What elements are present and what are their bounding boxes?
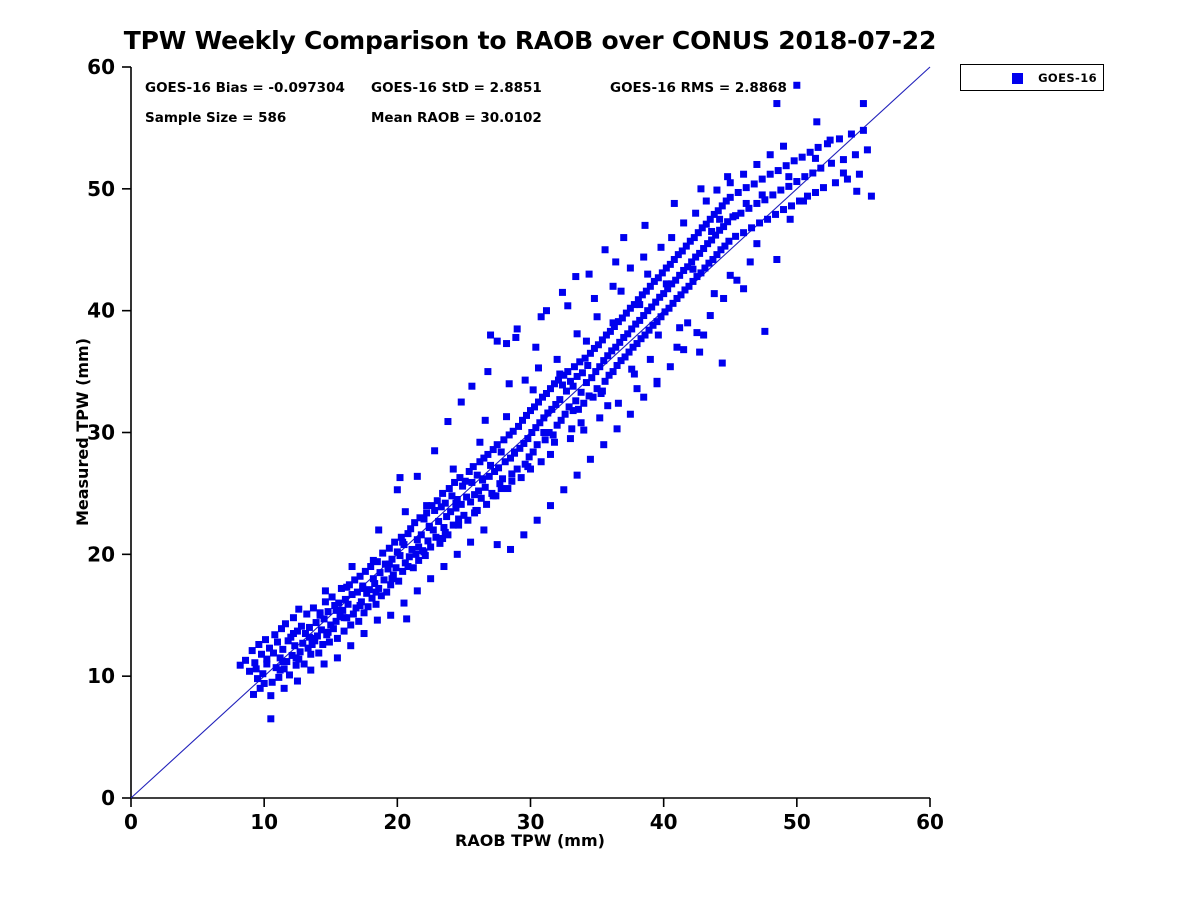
scatter-point xyxy=(724,173,731,180)
scatter-point xyxy=(361,630,368,637)
scatter-point xyxy=(275,674,282,681)
scatter-point xyxy=(844,176,851,183)
scatter-point xyxy=(567,435,574,442)
scatter-point xyxy=(696,349,703,356)
scatter-point xyxy=(580,427,587,434)
scatter-point xyxy=(370,557,377,564)
scatter-point xyxy=(315,650,322,657)
scatter-point xyxy=(444,418,451,425)
scatter-point xyxy=(860,100,867,107)
scatter-point xyxy=(255,641,262,648)
scatter-point xyxy=(560,486,567,493)
scatter-point xyxy=(434,497,441,504)
scatter-point xyxy=(727,272,734,279)
scatter-point xyxy=(799,154,806,161)
scatter-point xyxy=(407,525,414,532)
scatter-point xyxy=(542,436,549,443)
scatter-point xyxy=(791,157,798,164)
scatter-point xyxy=(507,546,514,553)
scatter-point xyxy=(570,383,577,390)
scatter-point xyxy=(403,615,410,622)
scatter-point xyxy=(307,651,314,658)
scatter-point xyxy=(397,474,404,481)
scatter-point xyxy=(591,295,598,302)
scatter-point xyxy=(759,191,766,198)
scatter-point xyxy=(369,595,376,602)
scatter-point xyxy=(326,639,333,646)
scatter-point xyxy=(424,537,431,544)
scatter-point xyxy=(343,584,350,591)
scatter-point xyxy=(494,441,501,448)
scatter-point xyxy=(604,402,611,409)
scatter-point xyxy=(815,144,822,151)
scatter-point xyxy=(335,600,342,607)
y-axis-ticks xyxy=(122,67,131,798)
scatter-point xyxy=(251,659,258,666)
scatter-point xyxy=(568,425,575,432)
scatter-point xyxy=(291,642,298,649)
scatter-point xyxy=(458,399,465,406)
scatter-point xyxy=(783,162,790,169)
scatter-point xyxy=(313,619,320,626)
scatter-point xyxy=(550,431,557,438)
scatter-point xyxy=(483,501,490,508)
scatter-point xyxy=(732,233,739,240)
scatter-point xyxy=(267,715,274,722)
scatter-point xyxy=(627,411,634,418)
scatter-point xyxy=(246,668,253,675)
scatter-point xyxy=(514,466,521,473)
scatter-point xyxy=(314,632,321,639)
scatter-point xyxy=(511,448,518,455)
scatter-point xyxy=(262,636,269,643)
scatter-point xyxy=(402,508,409,515)
y-tick-label-20: 20 xyxy=(87,542,115,566)
scatter-point xyxy=(427,575,434,582)
scatter-point xyxy=(334,635,341,642)
scatter-point xyxy=(355,618,362,625)
scatter-point xyxy=(446,485,453,492)
scatter-point xyxy=(253,665,260,672)
scatter-point xyxy=(322,587,329,594)
x-axis-label: RAOB TPW (mm) xyxy=(455,831,605,850)
scatter-point xyxy=(375,526,382,533)
scatter-point xyxy=(743,200,750,207)
scatter-point xyxy=(785,183,792,190)
scatter-point xyxy=(767,171,774,178)
scatter-point xyxy=(578,389,585,396)
scatter-point xyxy=(476,439,483,446)
scatter-point xyxy=(676,324,683,331)
scatter-point xyxy=(596,414,603,421)
scatter-point xyxy=(286,671,293,678)
scatter-point xyxy=(773,256,780,263)
scatter-point xyxy=(508,478,515,485)
scatter-point xyxy=(522,377,529,384)
scatter-point xyxy=(574,472,581,479)
scatter-point xyxy=(756,219,763,226)
legend-label-goes16: GOES-16 xyxy=(961,71,1097,85)
scatter-point xyxy=(680,346,687,353)
scatter-point xyxy=(321,615,328,622)
scatter-point xyxy=(580,400,587,407)
scatter-point xyxy=(389,575,396,582)
scatter-point xyxy=(478,495,485,502)
scatter-point xyxy=(334,654,341,661)
scatter-point xyxy=(590,394,597,401)
scatter-point xyxy=(503,340,510,347)
scatter-point xyxy=(647,356,654,363)
scatter-point xyxy=(431,447,438,454)
scatter-point xyxy=(347,622,354,629)
x-tick-label-50: 50 xyxy=(783,810,811,834)
scatter-point xyxy=(840,170,847,177)
scatter-point xyxy=(467,498,474,505)
scatter-point xyxy=(807,149,814,156)
legend: GOES-16 xyxy=(960,64,1104,91)
scatter-point xyxy=(277,667,284,674)
scatter-point xyxy=(693,329,700,336)
scatter-point xyxy=(306,634,313,641)
scatter-point xyxy=(759,176,766,183)
scatter-point xyxy=(716,216,723,223)
scatter-point xyxy=(250,691,257,698)
scatter-point xyxy=(464,517,471,524)
scatter-point xyxy=(719,360,726,367)
scatter-point xyxy=(414,587,421,594)
scatter-point xyxy=(439,535,446,542)
scatter-point xyxy=(538,458,545,465)
scatter-point xyxy=(281,685,288,692)
scatter-point xyxy=(586,271,593,278)
scatter-point xyxy=(386,545,393,552)
scatter-point xyxy=(658,244,665,251)
scatter-point xyxy=(809,170,816,177)
scatter-point xyxy=(534,517,541,524)
scatter-point xyxy=(620,234,627,241)
scatter-point xyxy=(663,280,670,287)
scatter-point xyxy=(564,302,571,309)
scatter-point xyxy=(499,475,506,482)
scatter-point xyxy=(426,524,433,531)
scatter-point xyxy=(788,202,795,209)
scatter-point xyxy=(503,413,510,420)
scatter-point xyxy=(387,581,394,588)
scatter-point xyxy=(271,631,278,638)
scatter-point xyxy=(306,624,313,631)
scatter-point xyxy=(556,371,563,378)
scatter-point xyxy=(367,563,374,570)
scatter-point xyxy=(559,381,566,388)
scatter-point xyxy=(282,620,289,627)
scatter-point xyxy=(341,614,348,621)
scatter-point xyxy=(303,611,310,618)
scatter-point xyxy=(707,312,714,319)
scatter-point xyxy=(587,456,594,463)
scatter-point xyxy=(482,417,489,424)
scatter-point xyxy=(319,641,326,648)
scatter-point xyxy=(570,407,577,414)
scatter-point xyxy=(564,368,571,375)
y-tick-label-0: 0 xyxy=(101,786,115,810)
scatter-point xyxy=(317,609,324,616)
scatter-point xyxy=(391,539,398,546)
scatter-point xyxy=(415,557,422,564)
scatter-point xyxy=(494,541,501,548)
scatter-point xyxy=(347,642,354,649)
scatter-point xyxy=(769,191,776,198)
scatter-point xyxy=(383,589,390,596)
scatter-point xyxy=(599,388,606,395)
scatter-point xyxy=(295,606,302,613)
scatter-point xyxy=(269,679,276,686)
scatter-point xyxy=(832,179,839,186)
scatter-point xyxy=(333,607,340,614)
scatter-point xyxy=(610,283,617,290)
scatter-point xyxy=(379,550,386,557)
y-tick-label-10: 10 xyxy=(87,664,115,688)
scatter-point xyxy=(780,206,787,213)
scatter-point xyxy=(484,368,491,375)
scatter-point xyxy=(775,167,782,174)
scatter-point xyxy=(487,462,494,469)
scatter-point xyxy=(654,378,661,385)
scatter-point xyxy=(427,544,434,551)
scatter-point xyxy=(860,127,867,134)
scatter-point xyxy=(506,380,513,387)
scatter-point xyxy=(801,173,808,180)
x-tick-label-60: 60 xyxy=(916,810,944,834)
scatter-point xyxy=(534,441,541,448)
scatter-point xyxy=(482,484,489,491)
scatter-point xyxy=(470,463,477,470)
scatter-point xyxy=(644,271,651,278)
scatter-point xyxy=(689,266,696,273)
scatter-point xyxy=(400,600,407,607)
scatter-point xyxy=(562,411,569,418)
scatter-point xyxy=(498,485,505,492)
scatter-point xyxy=(475,487,482,494)
scatter-point xyxy=(440,563,447,570)
scatter-point xyxy=(393,564,400,571)
scatter-point xyxy=(780,143,787,150)
scatter-point xyxy=(257,685,264,692)
scatter-point xyxy=(442,529,449,536)
scatter-point xyxy=(640,254,647,261)
scatter-point xyxy=(747,258,754,265)
scatter-point xyxy=(753,240,760,247)
scatter-point xyxy=(450,466,457,473)
scatter-point xyxy=(480,526,487,533)
scatter-point xyxy=(655,332,662,339)
scatter-point xyxy=(827,137,834,144)
scatter-point xyxy=(310,604,317,611)
scatter-point xyxy=(423,509,430,516)
scatter-point xyxy=(495,464,502,471)
y-axis-label: Measured TPW (mm) xyxy=(73,338,92,526)
scatter-point xyxy=(298,623,305,630)
scatter-point xyxy=(711,290,718,297)
scatter-point xyxy=(455,522,462,529)
x-tick-label-0: 0 xyxy=(124,810,138,834)
scatter-point xyxy=(532,344,539,351)
scatter-point xyxy=(462,478,469,485)
scatter-point xyxy=(297,648,304,655)
scatter-point xyxy=(397,552,404,559)
scatter-point xyxy=(817,165,824,172)
scatter-point xyxy=(468,383,475,390)
scatter-point xyxy=(667,363,674,370)
scatter-point xyxy=(350,611,357,618)
scatter-point xyxy=(432,534,439,541)
scatter-point xyxy=(418,531,425,538)
scatter-point xyxy=(530,386,537,393)
scatter-point xyxy=(751,180,758,187)
scatter-point xyxy=(538,313,545,320)
scatter-point xyxy=(431,507,438,514)
scatter-point xyxy=(800,198,807,205)
scatter-point xyxy=(556,396,563,403)
scatter-point xyxy=(732,212,739,219)
scatter-point xyxy=(618,288,625,295)
scatter-point xyxy=(349,563,356,570)
scatter-point xyxy=(361,609,368,616)
scatter-point xyxy=(404,563,411,570)
scatter-point xyxy=(708,228,715,235)
scatter-point xyxy=(583,338,590,345)
scatter-point xyxy=(293,662,300,669)
scatter-point xyxy=(490,492,497,499)
scatter-point xyxy=(454,551,461,558)
scatter-point xyxy=(415,544,422,551)
scatter-point xyxy=(345,601,352,608)
scatter-point xyxy=(727,179,734,186)
scatter-point xyxy=(357,602,364,609)
y-tick-label-50: 50 xyxy=(87,177,115,201)
scatter-point xyxy=(524,463,531,470)
scatter-point xyxy=(325,629,332,636)
scatter-point xyxy=(439,490,446,497)
scatter-point xyxy=(540,429,547,436)
scatter-point xyxy=(322,598,329,605)
scatter-point xyxy=(547,502,554,509)
scatter-point xyxy=(602,246,609,253)
scatter-point xyxy=(713,187,720,194)
scatter-point xyxy=(753,200,760,207)
scatter-point xyxy=(579,369,586,376)
scatter-point xyxy=(600,441,607,448)
scatter-point xyxy=(471,509,478,516)
scatter-point xyxy=(366,586,373,593)
scatter-point xyxy=(559,289,566,296)
scatter-plot-canvas: 0102030405060 0102030405060 RAOB TPW (mm… xyxy=(0,0,1200,900)
scatter-point xyxy=(773,100,780,107)
scatter-point xyxy=(615,400,622,407)
scatter-point xyxy=(290,630,297,637)
scatter-point xyxy=(836,135,843,142)
scatter-point xyxy=(753,161,760,168)
scatter-point xyxy=(743,184,750,191)
x-tick-label-40: 40 xyxy=(650,810,678,834)
scatter-point xyxy=(423,502,430,509)
scatter-point xyxy=(270,650,277,657)
scatter-point xyxy=(394,486,401,493)
scatter-point xyxy=(365,603,372,610)
scatter-point xyxy=(359,585,366,592)
scatter-point xyxy=(406,553,413,560)
scatter-point xyxy=(420,516,427,523)
scatter-point xyxy=(671,200,678,207)
scatter-point xyxy=(341,628,348,635)
scatter-point xyxy=(514,325,521,332)
scatter-point xyxy=(602,378,609,385)
scatter-point xyxy=(572,273,579,280)
scatter-point xyxy=(740,171,747,178)
scatter-point xyxy=(377,569,384,576)
scatter-point xyxy=(242,657,249,664)
scatter-point xyxy=(547,451,554,458)
scatter-point xyxy=(487,332,494,339)
scatter-point xyxy=(614,425,621,432)
scatter-point xyxy=(767,151,774,158)
x-tick-label-20: 20 xyxy=(383,810,411,834)
scatter-point xyxy=(249,647,256,654)
scatter-point xyxy=(642,222,649,229)
scatter-point xyxy=(329,593,336,600)
scatter-point xyxy=(386,561,393,568)
scatter-point xyxy=(515,423,522,430)
scatter-point xyxy=(725,238,732,245)
scatter-point xyxy=(820,184,827,191)
x-tick-label-10: 10 xyxy=(250,810,278,834)
scatter-point xyxy=(596,363,603,370)
scatter-point xyxy=(309,641,316,648)
scatter-point xyxy=(703,198,710,205)
scatter-point xyxy=(610,319,617,326)
scatter-point xyxy=(852,151,859,158)
scatter-point xyxy=(848,131,855,138)
scatter-point xyxy=(828,160,835,167)
scatter-point xyxy=(563,388,570,395)
scatter-point xyxy=(512,334,519,341)
scatter-point xyxy=(668,234,675,241)
scatter-point xyxy=(813,118,820,125)
scatter-point xyxy=(700,332,707,339)
scatter-point xyxy=(267,692,274,699)
scatter-point xyxy=(301,660,308,667)
scatter-point-group xyxy=(237,82,875,723)
scatter-point xyxy=(610,368,617,375)
chart-figure: TPW Weekly Comparison to RAOB over CONUS… xyxy=(0,0,1200,900)
scatter-point xyxy=(787,216,794,223)
scatter-point xyxy=(551,439,558,446)
scatter-point xyxy=(777,187,784,194)
scatter-point xyxy=(636,301,643,308)
scatter-point xyxy=(697,185,704,192)
scatter-point xyxy=(594,313,601,320)
scatter-point xyxy=(452,500,459,507)
scatter-point xyxy=(640,394,647,401)
scatter-point xyxy=(373,589,380,596)
scatter-point xyxy=(735,189,742,196)
scatter-point xyxy=(290,614,297,621)
scatter-point xyxy=(578,419,585,426)
scatter-point xyxy=(748,224,755,231)
scatter-point xyxy=(373,601,380,608)
scatter-point xyxy=(520,531,527,538)
scatter-point xyxy=(325,608,332,615)
scatter-point xyxy=(740,285,747,292)
